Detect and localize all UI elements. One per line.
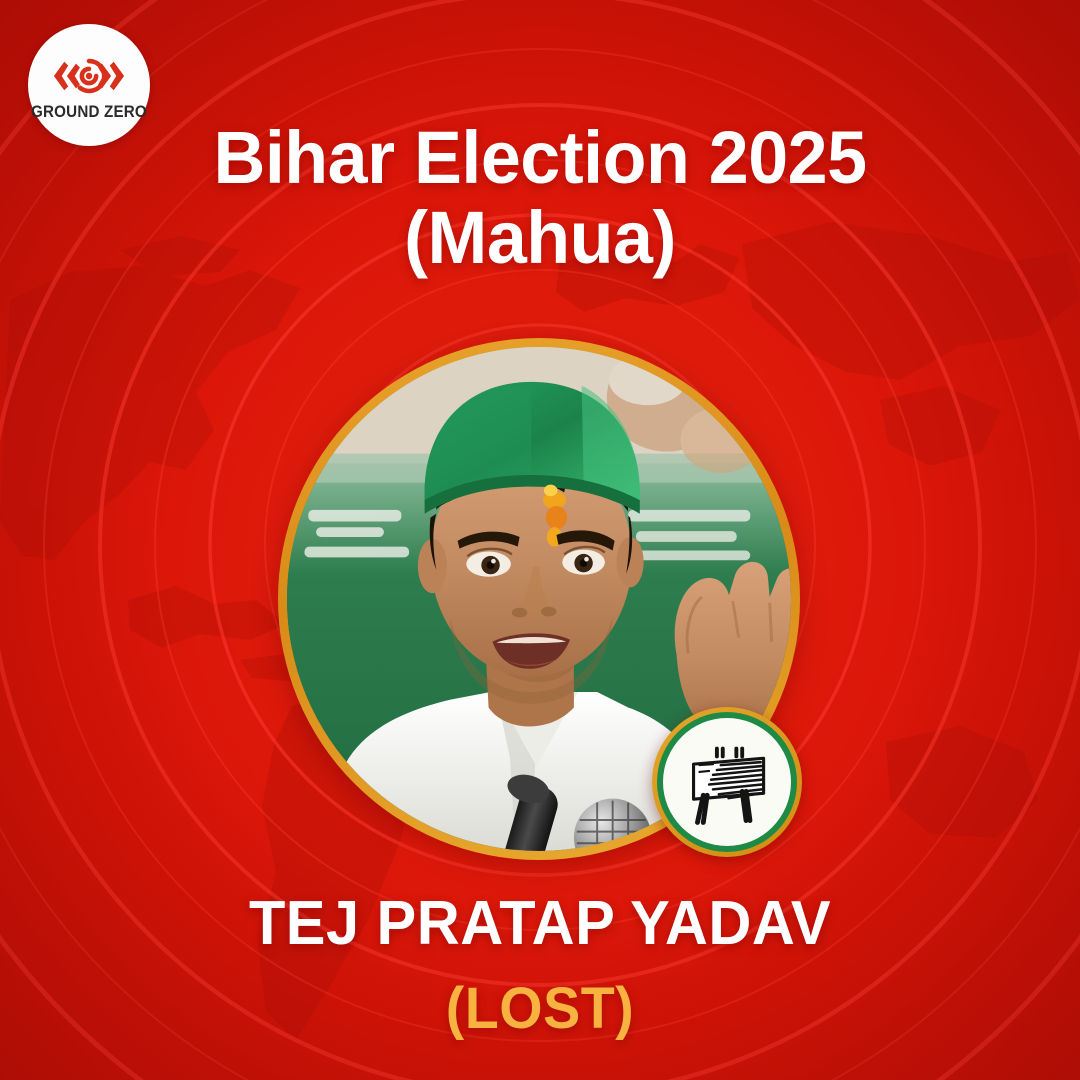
badge-face [663, 718, 791, 846]
candidate-name: TEJ PRATAP YADAV [22, 888, 1059, 959]
headline-line-2: (Mahua) [74, 198, 1005, 278]
badge-inner-ring [657, 712, 797, 852]
signal-spiral-icon [50, 50, 128, 102]
status-badge: (LOST) [22, 975, 1059, 1042]
party-symbol-badge [652, 707, 802, 857]
page-title: Bihar Election 2025 (Mahua) [16, 118, 1064, 278]
blackboard-easel-icon [678, 733, 775, 830]
headline-line-1: Bihar Election 2025 [213, 116, 866, 199]
election-result-card: GROUND ZERO Bihar Election 2025 (Mahua) [0, 0, 1080, 1080]
